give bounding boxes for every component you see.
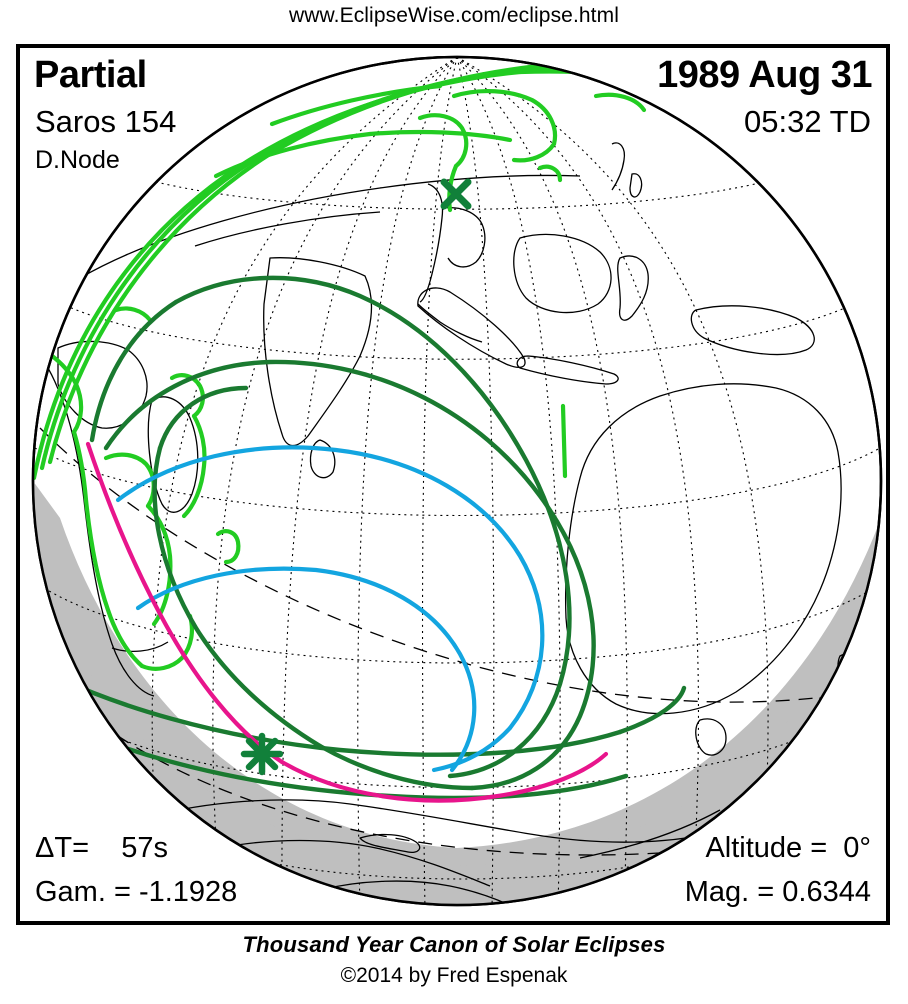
eclipse-diagram-page: www.EclipseWise.com/eclipse.html bbox=[0, 0, 908, 1004]
greatest-eclipse-point-marker bbox=[244, 736, 280, 772]
globe-map bbox=[20, 48, 886, 921]
eclipse-date-label: 1989 Aug 31 bbox=[657, 54, 872, 97]
delta-t-label: ΔT= 57s bbox=[35, 832, 168, 865]
saros-label: Saros 154 bbox=[35, 104, 176, 140]
eclipse-map-frame: Partial Saros 154 D.Node 1989 Aug 31 05:… bbox=[16, 44, 890, 925]
source-url-header: www.EclipseWise.com/eclipse.html bbox=[0, 4, 908, 28]
node-label: D.Node bbox=[35, 146, 120, 175]
altitude-label: Altitude = 0° bbox=[705, 832, 871, 865]
magnitude-label: Mag. = 0.6344 bbox=[685, 876, 871, 909]
publication-title: Thousand Year Canon of Solar Eclipses bbox=[0, 932, 908, 958]
eclipse-type-label: Partial bbox=[34, 54, 147, 97]
eclipse-time-label: 05:32 TD bbox=[744, 104, 871, 140]
copyright-credit: ©2014 by Fred Espenak bbox=[0, 964, 908, 988]
gamma-label: Gam. = -1.1928 bbox=[35, 876, 237, 909]
